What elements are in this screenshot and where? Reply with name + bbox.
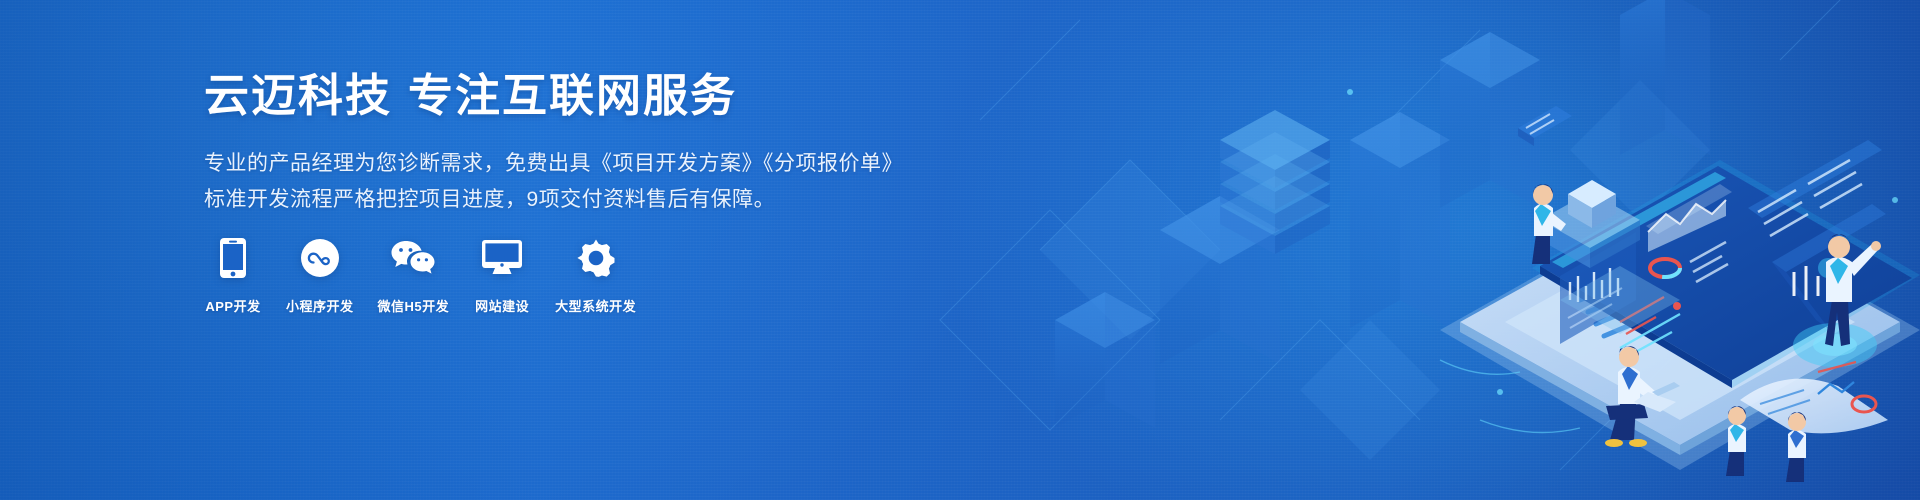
banner-subtitle: 专业的产品经理为您诊断需求，免费出具《项目开发方案》《分项报价单》 标准开发流程… <box>204 146 924 218</box>
banner-content: 云迈科技专注互联网服务 专业的产品经理为您诊断需求，免费出具《项目开发方案》《分… <box>204 68 924 218</box>
headline-tagline: 专注互联网服务 <box>408 70 737 121</box>
page-title: 云迈科技专注互联网服务 <box>204 68 924 124</box>
service-item-website[interactable]: 网站建设 <box>473 232 531 315</box>
service-item-app[interactable]: APP开发 <box>204 232 262 315</box>
wechat-icon <box>384 232 442 284</box>
service-list: APP开发 小程序开发 微信 <box>204 232 636 315</box>
service-label: 网站建设 <box>475 296 529 315</box>
service-label: 微信H5开发 <box>378 296 450 315</box>
headline-brand: 云迈科技 <box>204 70 392 121</box>
service-item-miniprogram[interactable]: 小程序开发 <box>286 232 354 315</box>
mobile-phone-icon <box>204 232 262 284</box>
service-label: 大型系统开发 <box>555 296 636 315</box>
service-label: 小程序开发 <box>286 296 354 315</box>
subtitle-line-1: 专业的产品经理为您诊断需求，免费出具《项目开发方案》《分项报价单》 <box>204 146 924 182</box>
service-label: APP开发 <box>205 296 260 315</box>
monitor-icon <box>473 232 531 284</box>
mini-program-icon <box>291 232 349 284</box>
hero-illustration <box>920 0 1920 500</box>
subtitle-line-2: 标准开发流程严格把控项目进度，9项交付资料售后有保障。 <box>204 182 924 218</box>
service-item-wechat-h5[interactable]: 微信H5开发 <box>378 232 450 315</box>
gear-icon <box>567 232 625 284</box>
hero-banner: 云迈科技专注互联网服务 专业的产品经理为您诊断需求，免费出具《项目开发方案》《分… <box>0 0 1920 500</box>
service-item-large-system[interactable]: 大型系统开发 <box>555 232 636 315</box>
